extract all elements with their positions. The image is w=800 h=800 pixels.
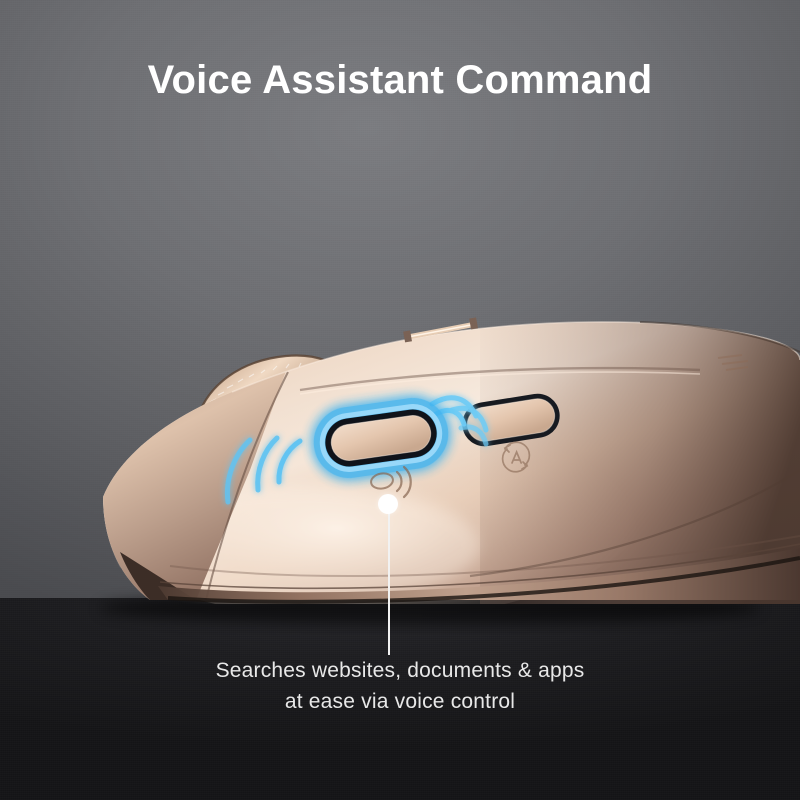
page-title: Voice Assistant Command <box>0 58 800 103</box>
callout-line <box>388 512 390 655</box>
callout-caption: Searches websites, documents & apps at e… <box>0 655 800 717</box>
caption-line-1: Searches websites, documents & apps <box>0 655 800 686</box>
callout-dot <box>378 494 398 514</box>
caption-line-2: at ease via voice control <box>0 686 800 717</box>
product-marketing-image: Voice Assistant Command <box>0 0 800 800</box>
